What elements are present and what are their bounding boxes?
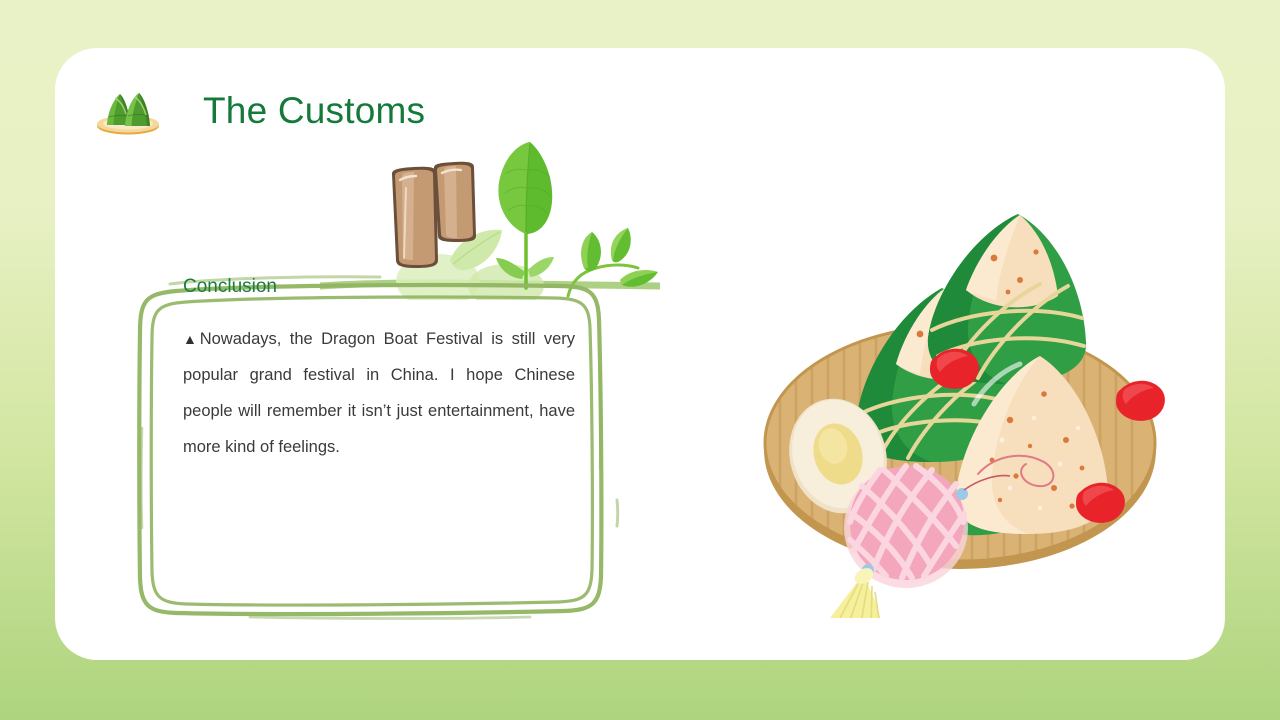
slide-root: The Customs — [0, 0, 1280, 720]
page-title: The Customs — [203, 92, 425, 129]
zongzi-platter-illustration — [710, 188, 1210, 618]
conclusion-paragraph: ▲Nowadays, the Dragon Boat Festival is s… — [183, 321, 575, 465]
triangle-bullet-icon: ▲ — [183, 331, 200, 347]
zongzi-plate-icon — [95, 84, 161, 136]
conclusion-heading: Conclusion — [183, 276, 575, 299]
content-card: The Customs — [55, 48, 1225, 660]
slide-header: The Customs — [95, 78, 425, 142]
conclusion-text-block: Conclusion ▲Nowadays, the Dragon Boat Fe… — [183, 276, 575, 465]
conclusion-paragraph-text: Nowadays, the Dragon Boat Festival is st… — [183, 330, 575, 456]
